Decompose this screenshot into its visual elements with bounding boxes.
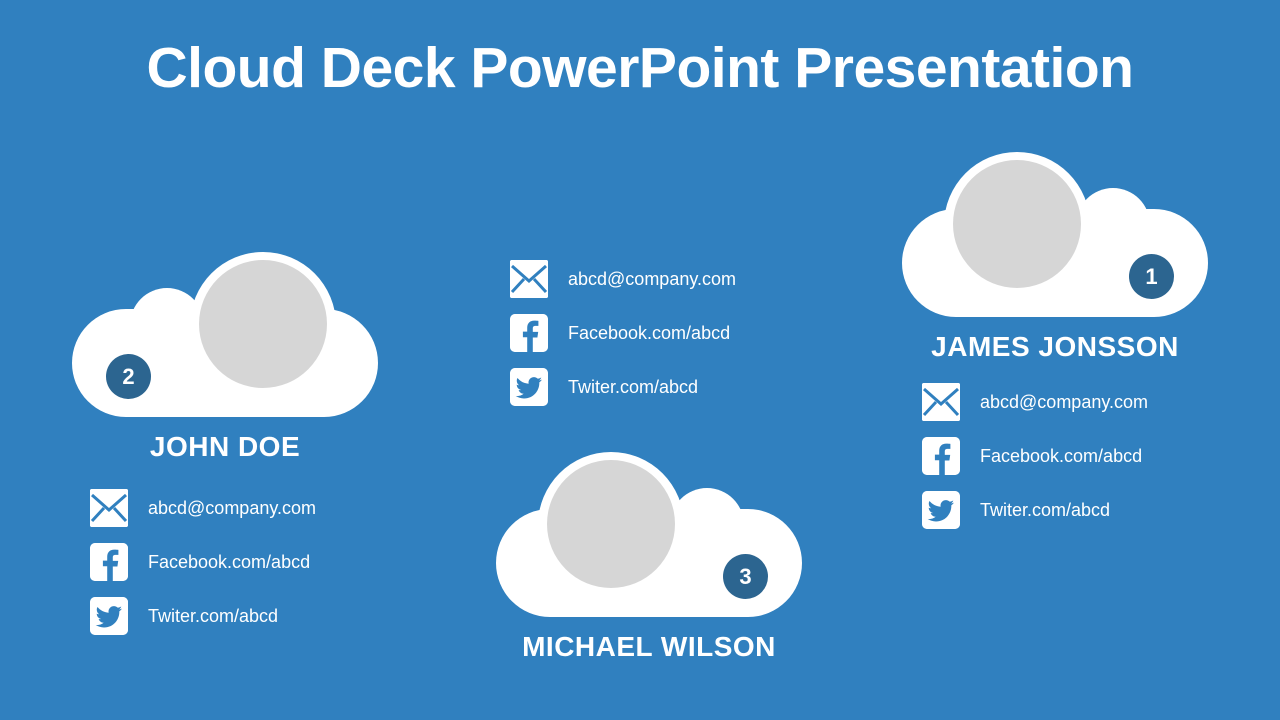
contact-list: abcd@company.com Facebook.com/abcd Twite… xyxy=(922,375,1208,537)
person-card-james-jonsson: 1 JAMES JONSSON abcd@company.com Faceboo… xyxy=(902,152,1208,537)
person-name: MICHAEL WILSON xyxy=(496,631,802,663)
badge-number: 2 xyxy=(106,354,151,399)
contact-row-email[interactable]: abcd@company.com xyxy=(510,252,736,306)
facebook-icon xyxy=(510,314,548,352)
cloud-graphic: 3 xyxy=(496,452,802,617)
contact-list: abcd@company.com Facebook.com/abcd Twite… xyxy=(90,481,378,643)
contact-label: abcd@company.com xyxy=(148,498,316,519)
person-card-michael-wilson: abcd@company.com Facebook.com/abcd Twite… xyxy=(496,452,802,663)
twitter-icon xyxy=(90,597,128,635)
cloud-graphic: 1 xyxy=(902,152,1208,317)
contact-label: Twiter.com/abcd xyxy=(568,377,698,398)
contact-row-twitter[interactable]: Twiter.com/abcd xyxy=(922,483,1208,537)
facebook-icon xyxy=(922,437,960,475)
slide: Cloud Deck PowerPoint Presentation 2 JOH… xyxy=(0,0,1280,720)
contact-label: Twiter.com/abcd xyxy=(148,606,278,627)
avatar xyxy=(953,160,1081,288)
page-title: Cloud Deck PowerPoint Presentation xyxy=(0,36,1280,102)
contact-row-email[interactable]: abcd@company.com xyxy=(90,481,378,535)
contact-row-twitter[interactable]: Twiter.com/abcd xyxy=(90,589,378,643)
mail-icon xyxy=(510,260,548,298)
contact-label: abcd@company.com xyxy=(980,392,1148,413)
twitter-icon xyxy=(922,491,960,529)
contact-row-facebook[interactable]: Facebook.com/abcd xyxy=(510,306,736,360)
contact-row-facebook[interactable]: Facebook.com/abcd xyxy=(90,535,378,589)
contact-label: Facebook.com/abcd xyxy=(568,323,730,344)
mail-icon xyxy=(90,489,128,527)
mail-icon xyxy=(922,383,960,421)
avatar xyxy=(547,460,675,588)
cloud-graphic: 2 xyxy=(72,252,378,417)
contact-row-facebook[interactable]: Facebook.com/abcd xyxy=(922,429,1208,483)
contact-label: Twiter.com/abcd xyxy=(980,500,1110,521)
contact-label: abcd@company.com xyxy=(568,269,736,290)
facebook-icon xyxy=(90,543,128,581)
person-name: JOHN DOE xyxy=(72,431,378,463)
contact-row-email[interactable]: abcd@company.com xyxy=(922,375,1208,429)
person-card-john-doe: 2 JOHN DOE abcd@company.com Facebook.com… xyxy=(72,252,378,643)
person-name: JAMES JONSSON xyxy=(902,331,1208,363)
twitter-icon xyxy=(510,368,548,406)
contact-list: abcd@company.com Facebook.com/abcd Twite… xyxy=(510,252,736,414)
contact-label: Facebook.com/abcd xyxy=(148,552,310,573)
avatar xyxy=(199,260,327,388)
badge-number: 3 xyxy=(723,554,768,599)
contact-label: Facebook.com/abcd xyxy=(980,446,1142,467)
contact-row-twitter[interactable]: Twiter.com/abcd xyxy=(510,360,736,414)
badge-number: 1 xyxy=(1129,254,1174,299)
